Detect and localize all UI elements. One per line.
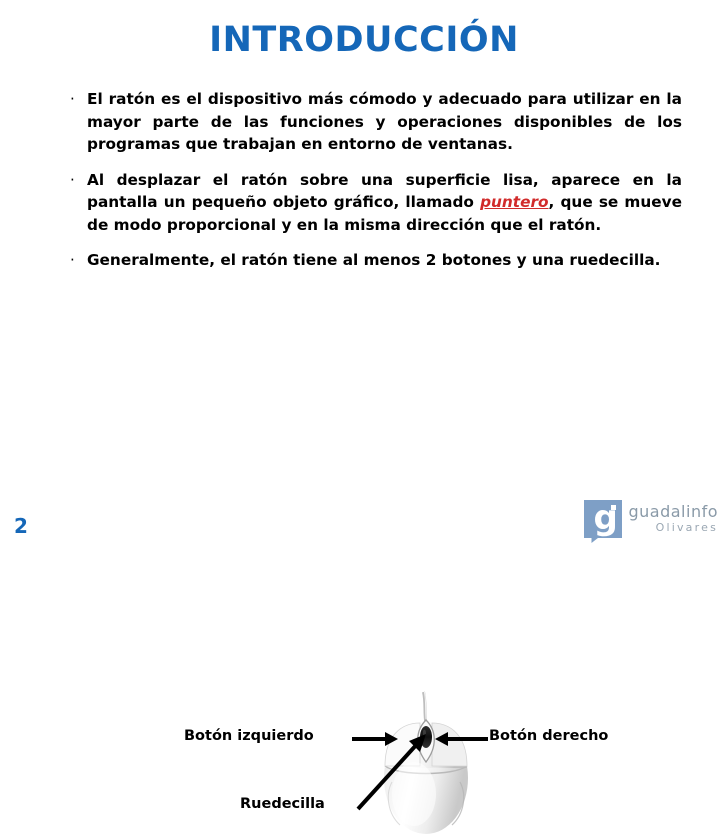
footer-logo: g guadalinfo Olivares <box>584 500 718 538</box>
logo-title: guadalinfo <box>628 504 718 521</box>
slide-canvas: INTRODUCCIÓN · El ratón es el dispositiv… <box>0 0 728 546</box>
arrow-right-button-shaft <box>448 737 488 741</box>
bullet-text-3: Generalmente, el ratón tiene al menos 2 … <box>87 249 682 272</box>
logo-text-block: guadalinfo Olivares <box>628 504 718 533</box>
label-left-button: Botón izquierdo <box>184 728 314 744</box>
label-right-button: Botón derecho <box>489 728 608 744</box>
logo-dot-icon <box>611 505 616 510</box>
bullet-list: · El ratón es el dispositivo más cómodo … <box>68 88 682 285</box>
list-item: · Generalmente, el ratón tiene al menos … <box>68 249 682 272</box>
label-wheel: Ruedecilla <box>240 796 325 812</box>
page-title: INTRODUCCIÓN <box>0 22 728 59</box>
bullet-marker-icon: · <box>70 249 75 272</box>
page-number: 2 <box>14 514 28 538</box>
list-item: · El ratón es el dispositivo más cómodo … <box>68 88 682 156</box>
logo-subtitle: Olivares <box>628 522 718 534</box>
highlight-puntero: puntero <box>480 193 548 211</box>
bullet-marker-icon: · <box>70 88 75 111</box>
bullet-text-1: El ratón es el dispositivo más cómodo y … <box>87 88 682 156</box>
bullet-marker-icon: · <box>70 169 75 192</box>
list-item: · Al desplazar el ratón sobre una superf… <box>68 169 682 237</box>
mouse-diagram: Botón izquierdo Botón derecho Ruedecilla <box>0 345 728 495</box>
guadalinfo-logo-icon: g <box>584 500 622 538</box>
arrow-wheel-icon <box>340 725 450 815</box>
bullet-text-2: Al desplazar el ratón sobre una superfic… <box>87 169 682 237</box>
